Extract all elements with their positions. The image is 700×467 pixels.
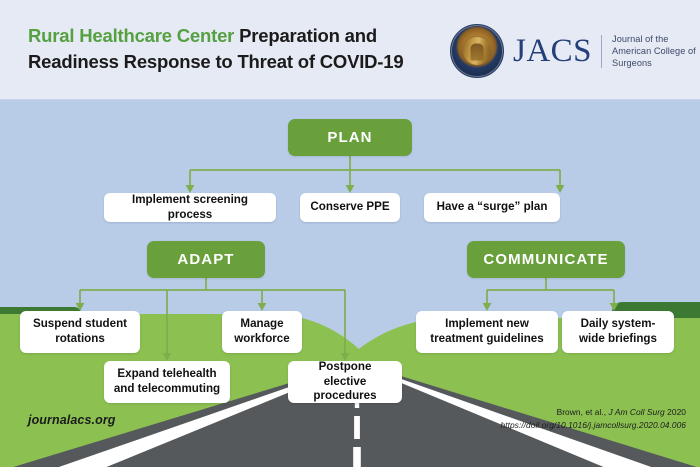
node-label: Have a “surge” plan <box>437 200 548 215</box>
flowchart: PLAN Implement screening process Conserv… <box>0 100 700 467</box>
header-bar: Rural Healthcare Center Preparation and … <box>0 0 700 100</box>
page-title-highlight: Rural Healthcare Center <box>28 25 234 46</box>
jacs-wordmark: JACS <box>513 35 602 68</box>
node-conserve-ppe[interactable]: Conserve PPE <box>300 193 400 222</box>
node-label: Expand telehealth and telecommuting <box>112 367 222 397</box>
node-have-a-surge-plan[interactable]: Have a “surge” plan <box>424 193 560 222</box>
node-communicate[interactable]: COMMUNICATE <box>467 241 625 278</box>
node-adapt-label: ADAPT <box>177 251 234 268</box>
node-expand-telehealth-and-telecommuting[interactable]: Expand telehealth and telecommuting <box>104 361 230 403</box>
infographic-page: Rural Healthcare Center Preparation and … <box>0 0 700 467</box>
node-label: Implement screening process <box>112 193 268 223</box>
node-label: Daily system-wide briefings <box>570 317 666 347</box>
node-adapt[interactable]: ADAPT <box>147 241 265 278</box>
page-title: Rural Healthcare Center Preparation and … <box>28 23 438 76</box>
node-plan[interactable]: PLAN <box>288 119 412 156</box>
jacs-subtitle-line1: Journal of the <box>612 33 700 45</box>
node-label: Manage workforce <box>230 317 294 347</box>
node-label: Postpone elective procedures <box>296 360 394 404</box>
node-implement-screening-process[interactable]: Implement screening process <box>104 193 276 222</box>
node-label: Implement new treatment guidelines <box>424 317 550 347</box>
acs-seal-icon <box>450 24 504 78</box>
node-suspend-student-rotations[interactable]: Suspend student rotations <box>20 311 140 353</box>
node-label: Conserve PPE <box>310 200 389 215</box>
jacs-logo: JACS Journal of the American College of … <box>450 24 700 78</box>
node-daily-system-wide-briefings[interactable]: Daily system-wide briefings <box>562 311 674 353</box>
node-postpone-elective-procedures[interactable]: Postpone elective procedures <box>288 361 402 403</box>
jacs-subtitle: Journal of the American College of Surge… <box>611 33 700 69</box>
node-plan-label: PLAN <box>327 129 372 146</box>
node-implement-new-treatment-guidelines[interactable]: Implement new treatment guidelines <box>416 311 558 353</box>
node-manage-workforce[interactable]: Manage workforce <box>222 311 302 353</box>
node-label: Suspend student rotations <box>28 317 132 347</box>
node-communicate-label: COMMUNICATE <box>483 251 608 268</box>
jacs-subtitle-line2: American College of Surgeons <box>612 45 700 69</box>
